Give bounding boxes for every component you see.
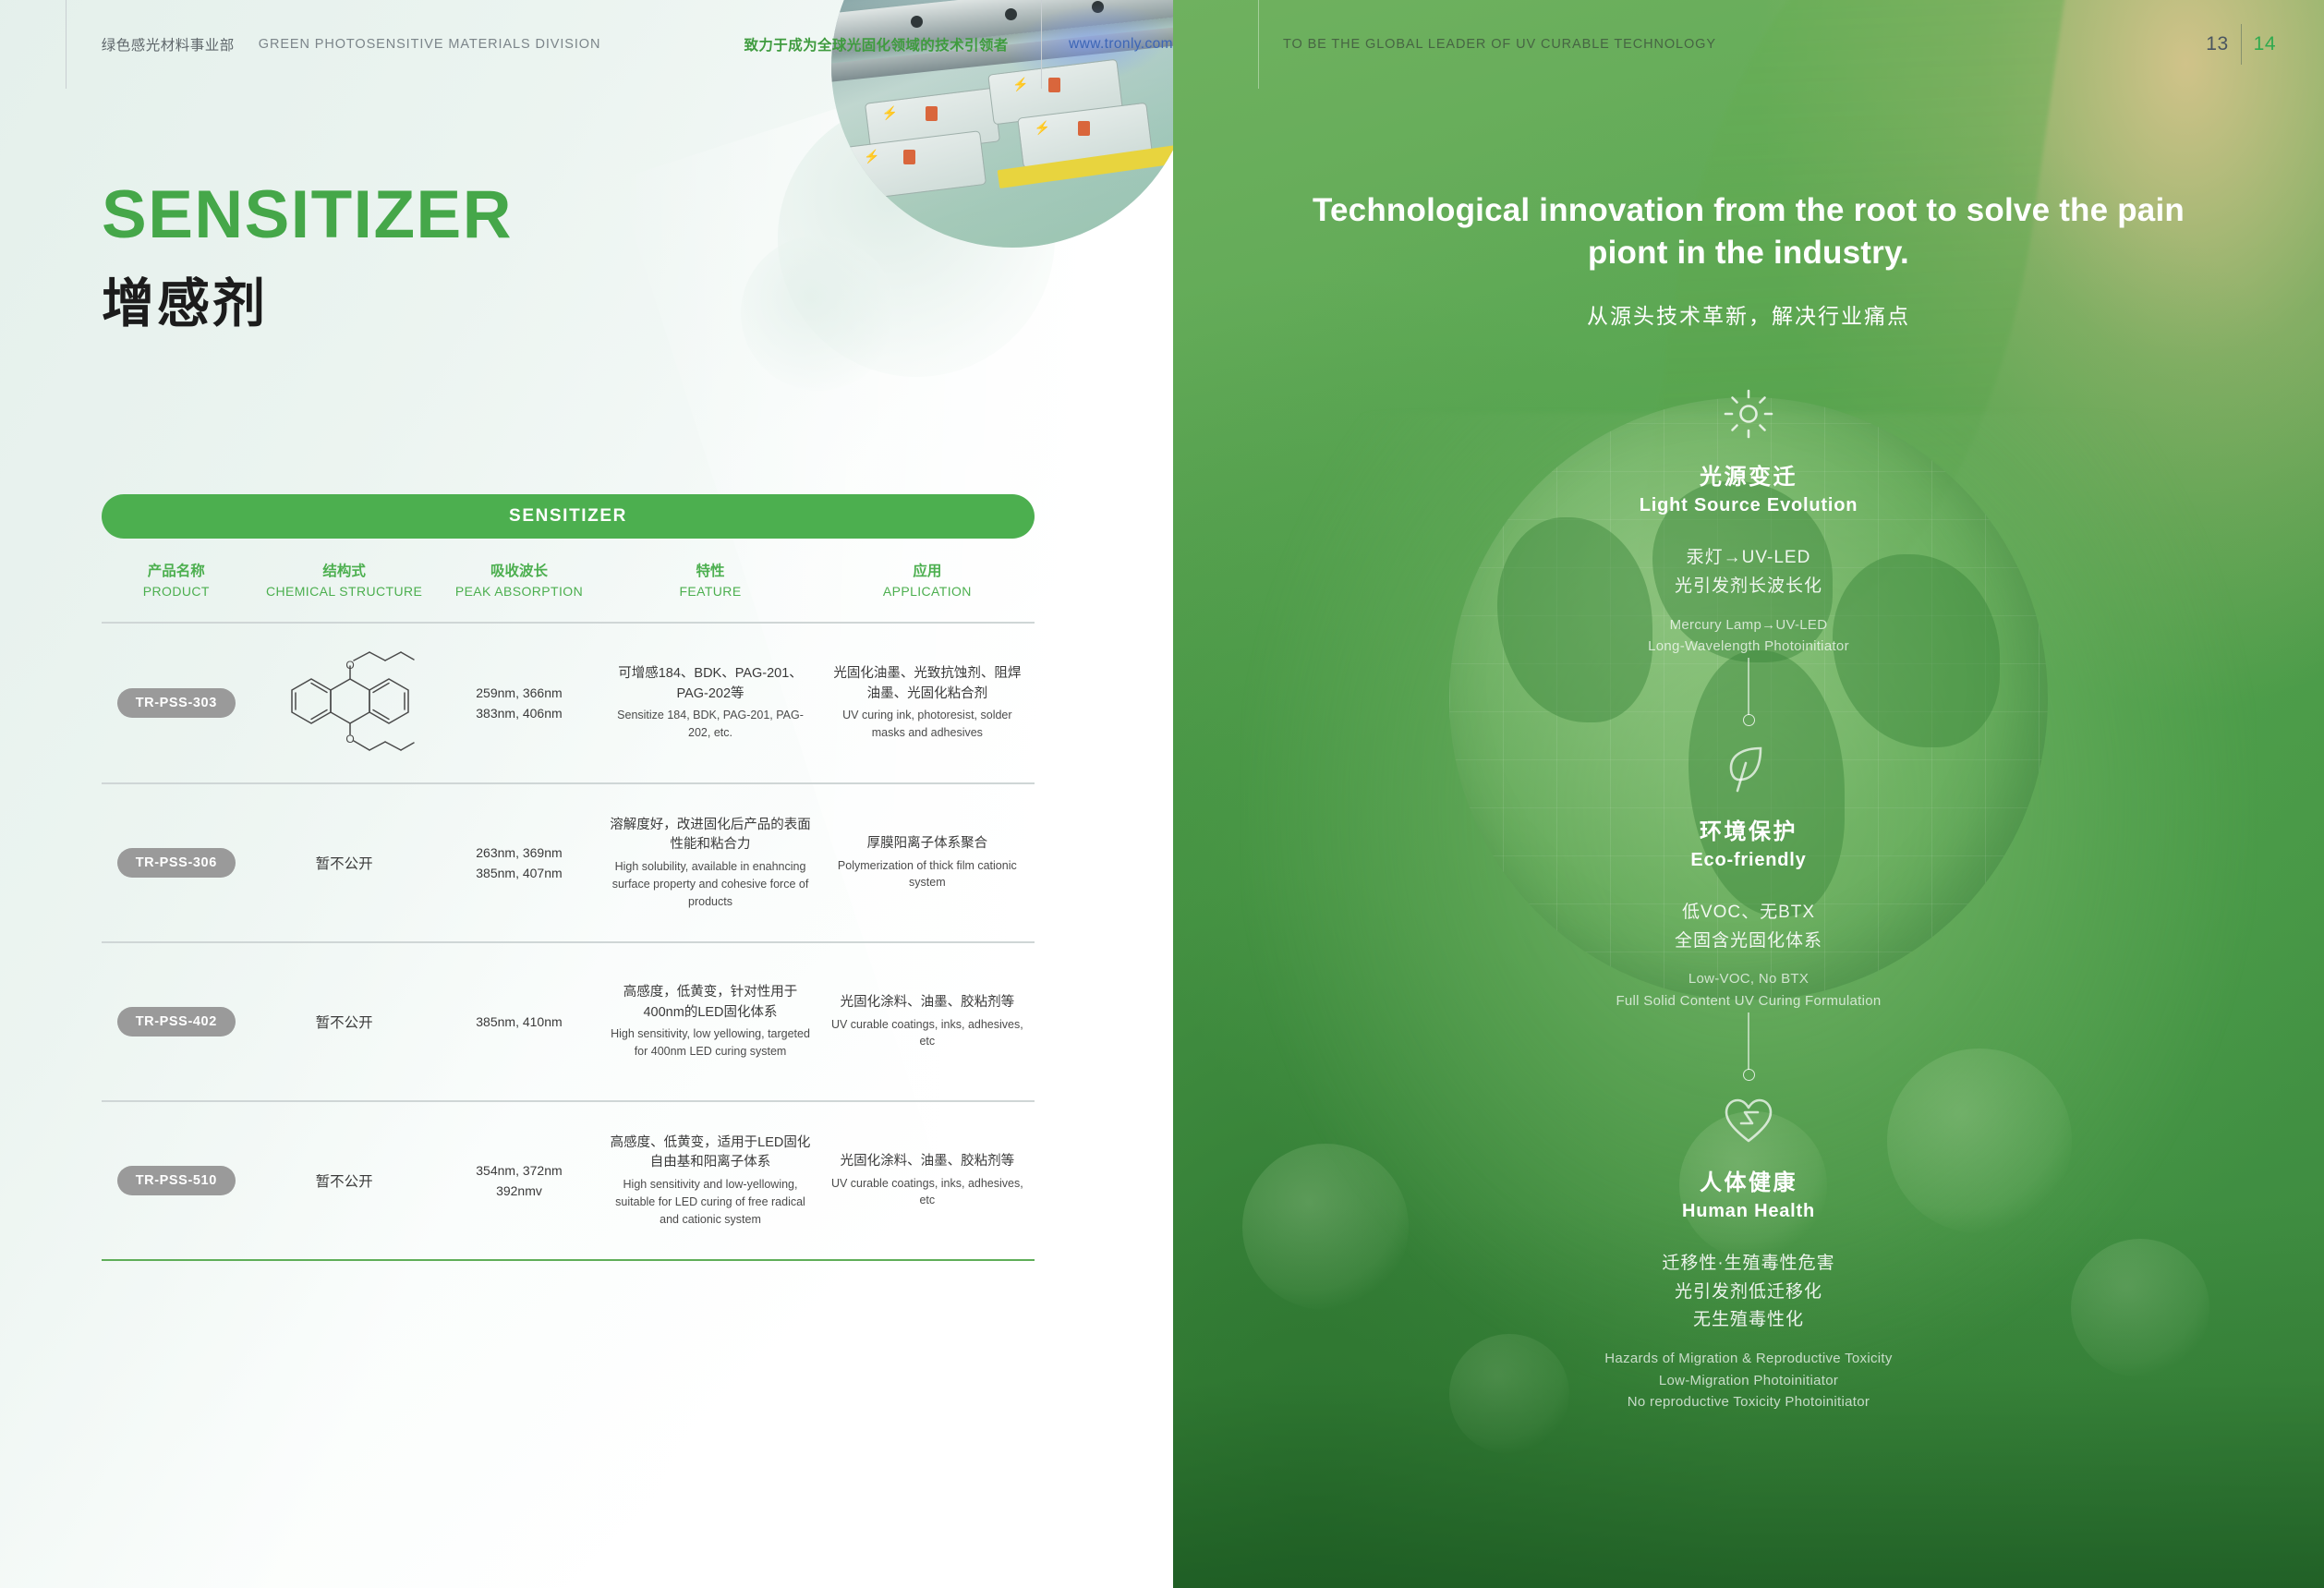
absorption-line-1: 259nm, 366nm (445, 683, 594, 703)
absorption-line-2: 385nm, 407nm (445, 863, 594, 883)
photo-bolt-mark: ⚡ (1035, 121, 1050, 134)
feature-en: High sensitivity, low yellowing, targete… (608, 1025, 812, 1061)
cell-chemical-structure: 暂不公开 (251, 853, 438, 873)
division-name-en: GREEN PHOTOSENSITIVE MATERIALS DIVISION (259, 37, 601, 52)
feature-en: High solubility, available in enahncing … (608, 858, 812, 910)
feature-body-en-line-1: Mercury Lamp→UV-LED (1173, 614, 2324, 636)
feature-body-cn: 低VOC、无BTX 全固含光固化体系 (1173, 899, 2324, 956)
col-head-cn: 结构式 (251, 563, 438, 582)
application-cn: 光固化油墨、光致抗蚀剂、阻焊油墨、光固化粘合剂 (828, 664, 1027, 705)
column-header-feature: 特性 FEATURE (600, 563, 819, 601)
feature-human-health: 人体健康 Human Health 迁移性·生殖毒性危害 光引发剂低迁移化 无生… (1173, 1097, 2324, 1413)
feature-body-en: Low-VOC, No BTX Full Solid Content UV Cu… (1173, 968, 2324, 1012)
photo-padlock-mark (903, 150, 915, 164)
cell-product: TR-PSS-510 (102, 1166, 251, 1195)
leaf-icon (1173, 743, 2324, 794)
application-en: UV curable coatings, inks, adhesives, et… (828, 1016, 1027, 1051)
cell-chemical-structure: O O (251, 642, 438, 764)
brochure-spread: ⚡ ⚡ ⚡ ⚡ 绿色感光材料事业部 GREEN PHOTOSENSITIVE M… (0, 0, 2324, 1588)
col-head-en: CHEMICAL STRUCTURE (251, 582, 438, 601)
right-page-header: TO BE THE GLOBAL LEADER OF UV CURABLE TE… (1173, 0, 2324, 89)
col-head-en: PEAK ABSORPTION (438, 582, 601, 601)
division-name-cn: 绿色感光材料事业部 (102, 34, 235, 55)
photo-padlock-mark (1078, 121, 1090, 136)
column-header-structure: 结构式 CHEMICAL STRUCTURE (251, 563, 438, 601)
absorption-line-1: 263nm, 369nm (445, 842, 594, 863)
sun-icon (1173, 388, 2324, 440)
col-head-cn: 应用 (820, 563, 1035, 582)
table-row: TR-PSS-306 暂不公开 263nm, 369nm 385nm, 407n… (102, 784, 1035, 941)
feature-connector (1173, 658, 2324, 743)
table-row: TR-PSS-402 暂不公开 385nm, 410nm 高感度，低黄变，针对性… (102, 943, 1035, 1100)
feature-en: Sensitize 184, BDK, PAG-201, PAG-202, et… (608, 707, 812, 742)
cell-feature: 可增感184、BDK、PAG-201、PAG-202等 Sensitize 18… (600, 664, 819, 742)
feature-cn: 高感度，低黄变，针对性用于400nm的LED固化体系 (608, 983, 812, 1024)
feature-body-en: Mercury Lamp→UV-LED Long-Wavelength Phot… (1173, 614, 2324, 658)
feature-body-en: Hazards of Migration & Reproductive Toxi… (1173, 1348, 2324, 1413)
feature-heading-cn: 环境保护 (1173, 818, 2324, 846)
feature-cn: 溶解度好，改进固化后产品的表面性能和粘合力 (608, 816, 812, 856)
svg-text:O: O (345, 733, 354, 746)
cell-absorption: 259nm, 366nm 383nm, 406nm (438, 683, 601, 724)
global-leader-slogan: TO BE THE GLOBAL LEADER OF UV CURABLE TE… (1283, 37, 1716, 52)
feature-heading-en: Human Health (1173, 1201, 2324, 1222)
product-badge: TR-PSS-510 (117, 1166, 236, 1195)
company-website[interactable]: www.tronly.com (1069, 36, 1173, 53)
connector-line (1748, 658, 1749, 715)
cell-chemical-structure: 暂不公开 (251, 1170, 438, 1191)
absorption-line-1: 354nm, 372nm (445, 1160, 594, 1181)
col-head-en: APPLICATION (820, 582, 1035, 601)
company-slogan-cn: 致力于成为全球光固化领域的技术引领者 (744, 34, 1009, 55)
absorption-line-2: 392nmv (445, 1181, 594, 1201)
table-bottom-rule (102, 1259, 1035, 1262)
cell-absorption: 354nm, 372nm 392nmv (438, 1160, 601, 1202)
feature-body-en-line-3: No reproductive Toxicity Photoinitiator (1173, 1391, 2324, 1413)
feature-heading-cn: 人体健康 (1173, 1170, 2324, 1197)
table-column-headers: 产品名称 PRODUCT 结构式 CHEMICAL STRUCTURE 吸收波长… (102, 563, 1035, 622)
header-divider-rule (1258, 0, 1259, 89)
application-cn: 厚膜阳离子体系聚合 (828, 834, 1027, 855)
application-cn: 光固化涂料、油墨、胶粘剂等 (828, 993, 1027, 1013)
feature-body-en-line-2: Long-Wavelength Photoinitiator (1173, 636, 2324, 658)
col-head-cn: 吸收波长 (438, 563, 601, 582)
left-page-header: 绿色感光材料事业部 GREEN PHOTOSENSITIVE MATERIALS… (0, 0, 1173, 89)
product-badge: TR-PSS-306 (117, 848, 236, 878)
column-header-absorption: 吸收波长 PEAK ABSORPTION (438, 563, 601, 601)
col-head-en: FEATURE (600, 582, 819, 601)
header-divider-rule (66, 0, 67, 89)
feature-list: 光源变迁 Light Source Evolution 汞灯→UV-LED 光引… (1173, 388, 2324, 1413)
feature-heading-en: Light Source Evolution (1173, 495, 2324, 516)
page-number-divider (2241, 24, 2242, 65)
feature-body-cn-line-2: 光引发剂低迁移化 (1173, 1279, 2324, 1307)
feature-body-cn-line-1: 迁移性·生殖毒性危害 (1173, 1250, 2324, 1279)
connector-line (1748, 1012, 1749, 1070)
absorption-line-1: 385nm, 410nm (445, 1012, 594, 1032)
feature-connector (1173, 1012, 2324, 1097)
product-badge: TR-PSS-303 (117, 688, 236, 718)
photo-padlock-mark (926, 106, 938, 121)
anthracene-structure-diagram: O O (266, 642, 423, 764)
feature-eco-friendly: 环境保护 Eco-friendly 低VOC、无BTX 全固含光固化体系 Low… (1173, 743, 2324, 1012)
headline-cn: 从源头技术革新，解决行业痛点 (1284, 298, 2213, 330)
feature-body-en-line-1: Hazards of Migration & Reproductive Toxi… (1173, 1348, 2324, 1370)
page-number-left: 13 (2206, 33, 2228, 55)
cell-application: 厚膜阳离子体系聚合 Polymerization of thick film c… (820, 834, 1035, 891)
cell-product: TR-PSS-306 (102, 848, 251, 878)
photo-bolt-mark: ⚡ (864, 150, 879, 163)
page-title-block: SENSITIZER 增感剂 (102, 181, 513, 331)
cell-feature: 高感度，低黄变，针对性用于400nm的LED固化体系 High sensitiv… (600, 983, 819, 1061)
cell-product: TR-PSS-402 (102, 1007, 251, 1036)
cell-absorption: 385nm, 410nm (438, 1012, 601, 1032)
feature-body-cn-line-2: 全固含光固化体系 (1173, 927, 2324, 956)
cell-product: TR-PSS-303 (102, 688, 251, 718)
product-badge: TR-PSS-402 (117, 1007, 236, 1036)
feature-heading-en: Eco-friendly (1173, 850, 2324, 871)
application-cn: 光固化涂料、油墨、胶粘剂等 (828, 1152, 1027, 1172)
feature-body-cn-line-1: 低VOC、无BTX (1173, 899, 2324, 927)
feature-body-cn: 汞灯→UV-LED 光引发剂长波长化 (1173, 544, 2324, 601)
col-head-cn: 产品名称 (102, 563, 251, 582)
feature-body-cn-line-1: 汞灯→UV-LED (1173, 544, 2324, 573)
feature-body-en-line-2: Full Solid Content UV Curing Formulation (1173, 990, 2324, 1012)
table-row: TR-PSS-510 暂不公开 354nm, 372nm 392nmv 高感度、… (102, 1102, 1035, 1259)
table-banner: SENSITIZER (102, 494, 1035, 539)
right-page: TO BE THE GLOBAL LEADER OF UV CURABLE TE… (1173, 0, 2324, 1588)
page-title-cn: 增感剂 (102, 278, 513, 331)
feature-body-cn-line-3: 无生殖毒性化 (1173, 1306, 2324, 1335)
column-header-application: 应用 APPLICATION (820, 563, 1035, 601)
cell-feature: 高感度、低黄变，适用于LED固化自由基和阳离子体系 High sensitivi… (600, 1133, 819, 1229)
cell-application: 光固化油墨、光致抗蚀剂、阻焊油墨、光固化粘合剂 UV curing ink, p… (820, 664, 1035, 742)
connector-node (1743, 1069, 1755, 1081)
photo-bolt-mark: ⚡ (882, 106, 898, 119)
application-en: Polymerization of thick film cationic sy… (828, 857, 1027, 892)
connector-node (1743, 714, 1755, 726)
col-head-cn: 特性 (600, 563, 819, 582)
col-head-en: PRODUCT (102, 582, 251, 601)
application-en: UV curing ink, photoresist, solder masks… (828, 707, 1027, 742)
structure-undisclosed-text: 暂不公开 (259, 1012, 430, 1032)
decorative-circle-small (741, 236, 896, 391)
feature-cn: 可增感184、BDK、PAG-201、PAG-202等 (608, 664, 812, 705)
feature-cn: 高感度、低黄变，适用于LED固化自由基和阳离子体系 (608, 1133, 812, 1174)
page-number-right: 14 (2254, 33, 2276, 55)
svg-text:O: O (345, 659, 354, 672)
heart-health-icon (1173, 1097, 2324, 1146)
feature-body-cn: 迁移性·生殖毒性危害 光引发剂低迁移化 无生殖毒性化 (1173, 1250, 2324, 1335)
cell-application: 光固化涂料、油墨、胶粘剂等 UV curable coatings, inks,… (820, 993, 1035, 1050)
feature-body-en-line-1: Low-VOC, No BTX (1173, 968, 2324, 990)
feature-en: High sensitivity and low-yellowing, suit… (608, 1176, 812, 1228)
cell-application: 光固化涂料、油墨、胶粘剂等 UV curable coatings, inks,… (820, 1152, 1035, 1209)
column-header-product: 产品名称 PRODUCT (102, 563, 251, 601)
feature-body-cn-line-2: 光引发剂长波长化 (1173, 573, 2324, 601)
header-divider-rule-2 (1041, 0, 1042, 89)
sensitizer-table: SENSITIZER 产品名称 PRODUCT 结构式 CHEMICAL STR… (102, 494, 1035, 1261)
feature-light-source-evolution: 光源变迁 Light Source Evolution 汞灯→UV-LED 光引… (1173, 388, 2324, 658)
table-row: TR-PSS-303 (102, 624, 1035, 782)
right-page-headline: Technological innovation from the root t… (1173, 189, 2324, 330)
cell-chemical-structure: 暂不公开 (251, 1012, 438, 1032)
page-title-en: SENSITIZER (102, 181, 513, 249)
headline-en: Technological innovation from the root t… (1284, 189, 2213, 274)
feature-heading-cn: 光源变迁 (1173, 464, 2324, 491)
cell-absorption: 263nm, 369nm 385nm, 407nm (438, 842, 601, 884)
cell-feature: 溶解度好，改进固化后产品的表面性能和粘合力 High solubility, a… (600, 816, 819, 911)
absorption-line-2: 383nm, 406nm (445, 703, 594, 723)
structure-undisclosed-text: 暂不公开 (259, 853, 430, 873)
application-en: UV curable coatings, inks, adhesives, et… (828, 1175, 1027, 1210)
left-page: ⚡ ⚡ ⚡ ⚡ 绿色感光材料事业部 GREEN PHOTOSENSITIVE M… (0, 0, 1173, 1588)
feature-body-en-line-2: Low-Migration Photoinitiator (1173, 1370, 2324, 1392)
structure-undisclosed-text: 暂不公开 (259, 1170, 430, 1191)
